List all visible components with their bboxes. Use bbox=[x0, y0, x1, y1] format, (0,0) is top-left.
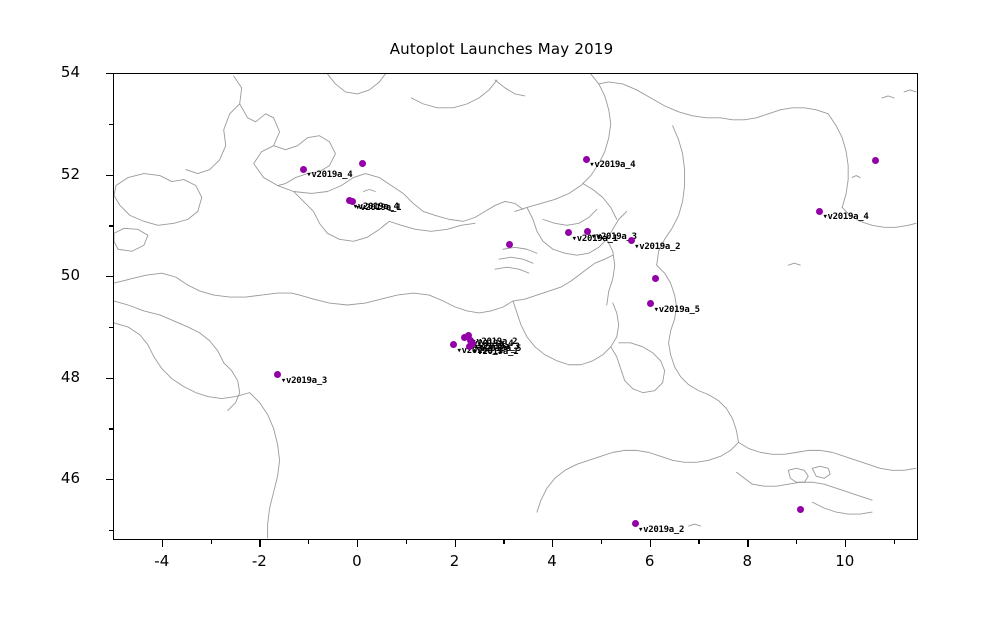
plot-area bbox=[113, 73, 918, 540]
data-point[interactable] bbox=[506, 241, 513, 248]
x-tick-major bbox=[552, 540, 553, 547]
y-tick-major bbox=[106, 175, 113, 176]
x-tick-minor bbox=[796, 540, 797, 544]
data-point-label: ▾v2019a_5 bbox=[654, 305, 700, 315]
y-tick-minor bbox=[109, 327, 113, 328]
x-tick-major bbox=[747, 540, 748, 547]
x-tick-major bbox=[455, 540, 456, 547]
data-point-label: ▾v2019a_4 bbox=[589, 160, 635, 170]
y-tick-label: 50 bbox=[34, 266, 80, 284]
y-tick-minor bbox=[109, 225, 113, 226]
y-tick-minor bbox=[109, 428, 113, 429]
x-tick-label: 10 bbox=[815, 552, 875, 570]
data-point-label: ▾v2019a_2 bbox=[638, 525, 684, 535]
x-tick-minor bbox=[894, 540, 895, 544]
x-tick-major bbox=[259, 540, 260, 547]
y-tick-label: 46 bbox=[34, 469, 80, 487]
data-point-label: ▾v2019a_4 bbox=[306, 170, 352, 180]
x-tick-minor bbox=[211, 540, 212, 544]
data-point-label: ▾v2019a_3 bbox=[281, 376, 327, 386]
x-tick-label: 0 bbox=[327, 552, 387, 570]
y-tick-label: 48 bbox=[34, 368, 80, 386]
data-point-label: ▾v2019a_1 bbox=[355, 203, 401, 213]
x-tick-minor bbox=[503, 540, 504, 544]
chart-title: Autoplot Launches May 2019 bbox=[0, 40, 1003, 58]
y-tick-label: 54 bbox=[34, 63, 80, 81]
x-tick-minor bbox=[406, 540, 407, 544]
x-tick-label: -2 bbox=[229, 552, 289, 570]
data-point[interactable] bbox=[872, 157, 879, 164]
y-tick-label: 52 bbox=[34, 165, 80, 183]
y-tick-minor bbox=[109, 530, 113, 531]
x-tick-major bbox=[357, 540, 358, 547]
y-tick-major bbox=[106, 276, 113, 277]
x-tick-minor bbox=[308, 540, 309, 544]
y-tick-minor bbox=[109, 124, 113, 125]
x-tick-label: -4 bbox=[132, 552, 192, 570]
x-tick-label: 4 bbox=[522, 552, 582, 570]
x-tick-label: 2 bbox=[425, 552, 485, 570]
x-tick-minor bbox=[601, 540, 602, 544]
data-point-label: ▾v2019a_4 bbox=[822, 212, 868, 222]
x-tick-minor bbox=[698, 540, 699, 544]
y-tick-major bbox=[106, 378, 113, 379]
y-tick-major bbox=[106, 73, 113, 74]
x-tick-label: 6 bbox=[620, 552, 680, 570]
x-tick-major bbox=[845, 540, 846, 547]
data-point-label: ▾v2019a_2 bbox=[634, 242, 680, 252]
data-point-label: ▾v2019a_1 bbox=[472, 347, 518, 357]
x-tick-label: 8 bbox=[717, 552, 777, 570]
x-tick-major bbox=[650, 540, 651, 547]
x-tick-major bbox=[162, 540, 163, 547]
basemap-coastlines bbox=[114, 74, 917, 539]
y-tick-major bbox=[106, 479, 113, 480]
chart-canvas: Autoplot Launches May 2019 bbox=[0, 0, 1003, 633]
